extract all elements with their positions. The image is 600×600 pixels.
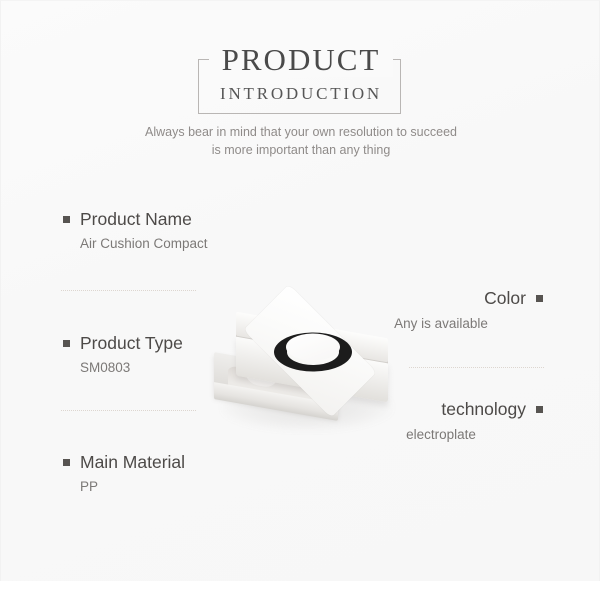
spec-main-material: Main Material PP bbox=[63, 451, 263, 497]
spec-label-row: Product Name bbox=[63, 208, 263, 230]
tagline-line-1: Always bear in mind that your own resolu… bbox=[1, 123, 600, 141]
spec-value-text: PP bbox=[63, 477, 263, 497]
square-bullet-icon bbox=[63, 459, 70, 466]
product-photo bbox=[214, 287, 404, 447]
spec-product-name: Product Name Air Cushion Compact bbox=[63, 208, 263, 254]
spec-label-text: Main Material bbox=[80, 451, 185, 473]
page-title-text: PRODUCT bbox=[209, 42, 394, 77]
divider-left-1 bbox=[61, 290, 196, 292]
divider-right-1 bbox=[409, 367, 544, 369]
page-subtitle: INTRODUCTION bbox=[1, 85, 600, 102]
spec-label-text: Product Type bbox=[80, 332, 183, 354]
square-bullet-icon bbox=[63, 340, 70, 347]
divider-left-2 bbox=[61, 410, 196, 412]
spec-label-text: technology bbox=[441, 398, 526, 420]
content-panel: PRODUCT INTRODUCTION Always bear in mind… bbox=[0, 0, 600, 581]
square-bullet-icon bbox=[63, 216, 70, 223]
page-title: PRODUCT bbox=[1, 44, 600, 75]
spec-label-text: Product Name bbox=[80, 208, 192, 230]
tagline-line-2: is more important than any thing bbox=[1, 141, 600, 159]
tagline: Always bear in mind that your own resolu… bbox=[1, 123, 600, 159]
spec-label-text: Color bbox=[484, 287, 526, 309]
square-bullet-icon bbox=[536, 406, 543, 413]
spec-label-row: Main Material bbox=[63, 451, 263, 473]
product-introduction-page: PRODUCT INTRODUCTION Always bear in mind… bbox=[0, 0, 600, 600]
spec-value-text: Air Cushion Compact bbox=[63, 234, 263, 254]
square-bullet-icon bbox=[536, 295, 543, 302]
